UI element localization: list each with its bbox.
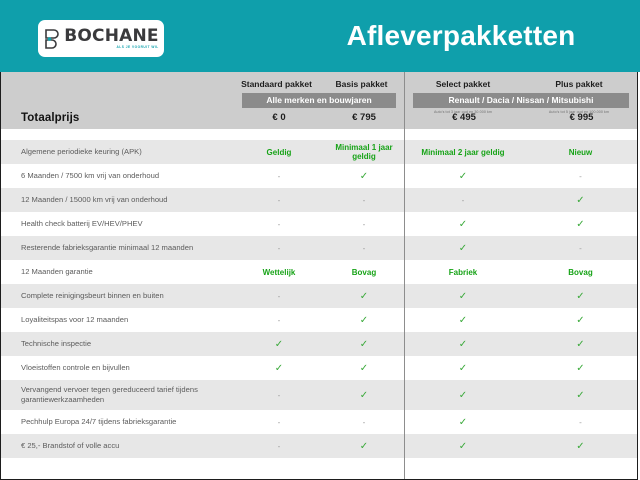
row-value-cell: - [234,164,324,188]
row-label: Algemene periodieke keuring (APK) [1,140,234,164]
table-row: Complete reinigingsbeurt binnen en buite… [1,284,637,308]
row-value-cell: ✓ [234,332,324,356]
table-row: € 25,- Brandstof of volle accu-✓✓✓ [1,434,637,458]
row-value-cell: - [234,434,324,458]
row-value-cell: Minimaal 1 jaar geldig [324,140,404,164]
row-label: Complete reinigingsbeurt binnen en buite… [1,284,234,308]
row-value-cell: ✓ [404,410,522,434]
row-value-cell: Bovag [324,260,404,284]
row-label: Vloeistoffen controle en bijvullen [1,356,234,380]
row-value-cell: ✓ [522,212,639,236]
row-value-cell: - [234,188,324,212]
row-value-cell: Geldig [234,140,324,164]
price-select: € 495 [405,112,523,123]
row-value-cell: ✓ [522,308,639,332]
group-divider [404,72,405,479]
row-value-cell: - [522,164,639,188]
row-label: 6 Maanden / 7500 km vrij van onderhoud [1,164,234,188]
logo-wordmark: BOCHANE [64,28,159,45]
total-price-label: Totaalprijs [21,112,79,124]
row-value-cell: ✓ [324,356,404,380]
table-row: 6 Maanden / 7500 km vrij van onderhoud-✓… [1,164,637,188]
price-basis: € 795 [324,112,404,123]
row-value-cell: ✓ [404,434,522,458]
row-value-cell: - [234,236,324,260]
row-value-cell: ✓ [324,308,404,332]
row-value-cell: ✓ [404,164,522,188]
row-value-cell: ✓ [522,188,639,212]
page-root: BOCHANE ALS JE VOORUIT WIL Afleverpakket… [0,0,640,480]
brand-bar-right: Renault / Dacia / Nissan / Mitsubishi [413,93,629,108]
column-header-standaard: Standaard pakket [234,79,319,89]
row-value-cell: Bovag [522,260,639,284]
row-value-cell: - [324,188,404,212]
table-row: Algemene periodieke keuring (APK)GeldigM… [1,140,637,164]
price-plus: € 995 [523,112,640,123]
row-value-cell: Minimaal 2 jaar geldig [404,140,522,164]
row-value-cell: ✓ [404,236,522,260]
row-value-cell: ✓ [324,284,404,308]
table-row: 12 Maanden / 15000 km vrij van onderhoud… [1,188,637,212]
table-row: 12 Maanden garantieWettelijkBovagFabriek… [1,260,637,284]
row-value-cell: ✓ [324,332,404,356]
row-value-cell: ✓ [234,356,324,380]
row-value-cell: ✓ [324,434,404,458]
row-value-cell: Wettelijk [234,260,324,284]
row-value-cell: Nieuw [522,140,639,164]
row-value-cell: ✓ [404,356,522,380]
table-row: Resterende fabrieksgarantie minimaal 12 … [1,236,637,260]
row-label: 12 Maanden garantie [1,260,234,284]
table-row: Loyaliteitspas voor 12 maanden-✓✓✓ [1,308,637,332]
row-value-cell: - [234,410,324,434]
row-value-cell: ✓ [404,332,522,356]
package-group-left: Standaard pakket Basis pakket Alle merke… [234,72,404,129]
row-value-cell: - [234,380,324,410]
row-label: Loyaliteitspas voor 12 maanden [1,308,234,332]
row-value-cell: - [234,284,324,308]
row-value-cell: - [324,236,404,260]
row-value-cell: ✓ [522,434,639,458]
column-header-plus: Plus pakket [521,79,637,89]
row-value-cell: ✓ [404,284,522,308]
package-group-right: Select pakket Plus pakket Renault / Daci… [405,72,637,129]
company-logo: BOCHANE ALS JE VOORUIT WIL [38,20,164,57]
row-value-cell: - [234,212,324,236]
row-value-cell: - [324,410,404,434]
row-value-cell: - [522,236,639,260]
row-value-cell: - [522,410,639,434]
bochane-mark-icon [43,28,60,50]
row-value-cell: - [324,212,404,236]
row-value-cell: ✓ [324,380,404,410]
row-value-cell: ✓ [522,356,639,380]
row-label: Vervangend vervoer tegen gereduceerd tar… [1,380,234,410]
row-value-cell: ✓ [522,380,639,410]
header-body-gap [1,129,637,140]
table-row: Technische inspectie✓✓✓✓ [1,332,637,356]
price-standaard: € 0 [234,112,324,123]
table-row: Vervangend vervoer tegen gereduceerd tar… [1,380,637,410]
page-header: BOCHANE ALS JE VOORUIT WIL Afleverpakket… [0,0,640,72]
row-label: Technische inspectie [1,332,234,356]
row-label: Resterende fabrieksgarantie minimaal 12 … [1,236,234,260]
row-value-cell: ✓ [404,380,522,410]
row-label: € 25,- Brandstof of volle accu [1,434,234,458]
column-header-select: Select pakket [405,79,521,89]
table-row: Health check batterij EV/HEV/PHEV--✓✓ [1,212,637,236]
row-value-cell: ✓ [522,332,639,356]
table-footer-strip [1,458,637,479]
row-value-cell: ✓ [522,284,639,308]
column-header-basis: Basis pakket [319,79,404,89]
page-title: Afleverpakketten [282,0,640,72]
table-body: Algemene periodieke keuring (APK)GeldigM… [1,140,637,458]
row-label: Health check batterij EV/HEV/PHEV [1,212,234,236]
row-label: Pechhulp Europa 24/7 tijdens fabrieksgar… [1,410,234,434]
row-value-cell: - [404,188,522,212]
row-label: 12 Maanden / 15000 km vrij van onderhoud [1,188,234,212]
brand-bar-left: Alle merken en bouwjaren [242,93,396,108]
row-value-cell: ✓ [404,212,522,236]
row-value-cell: ✓ [324,164,404,188]
table-header: Totaalprijs Standaard pakket Basis pakke… [1,72,637,129]
row-value-cell: - [234,308,324,332]
logo-tagline: ALS JE VOORUIT WIL [116,46,158,49]
table-row: Vloeistoffen controle en bijvullen✓✓✓✓ [1,356,637,380]
table-row: Pechhulp Europa 24/7 tijdens fabrieksgar… [1,410,637,434]
row-value-cell: ✓ [404,308,522,332]
row-value-cell: Fabriek [404,260,522,284]
package-comparison-table: Totaalprijs Standaard pakket Basis pakke… [0,72,638,480]
